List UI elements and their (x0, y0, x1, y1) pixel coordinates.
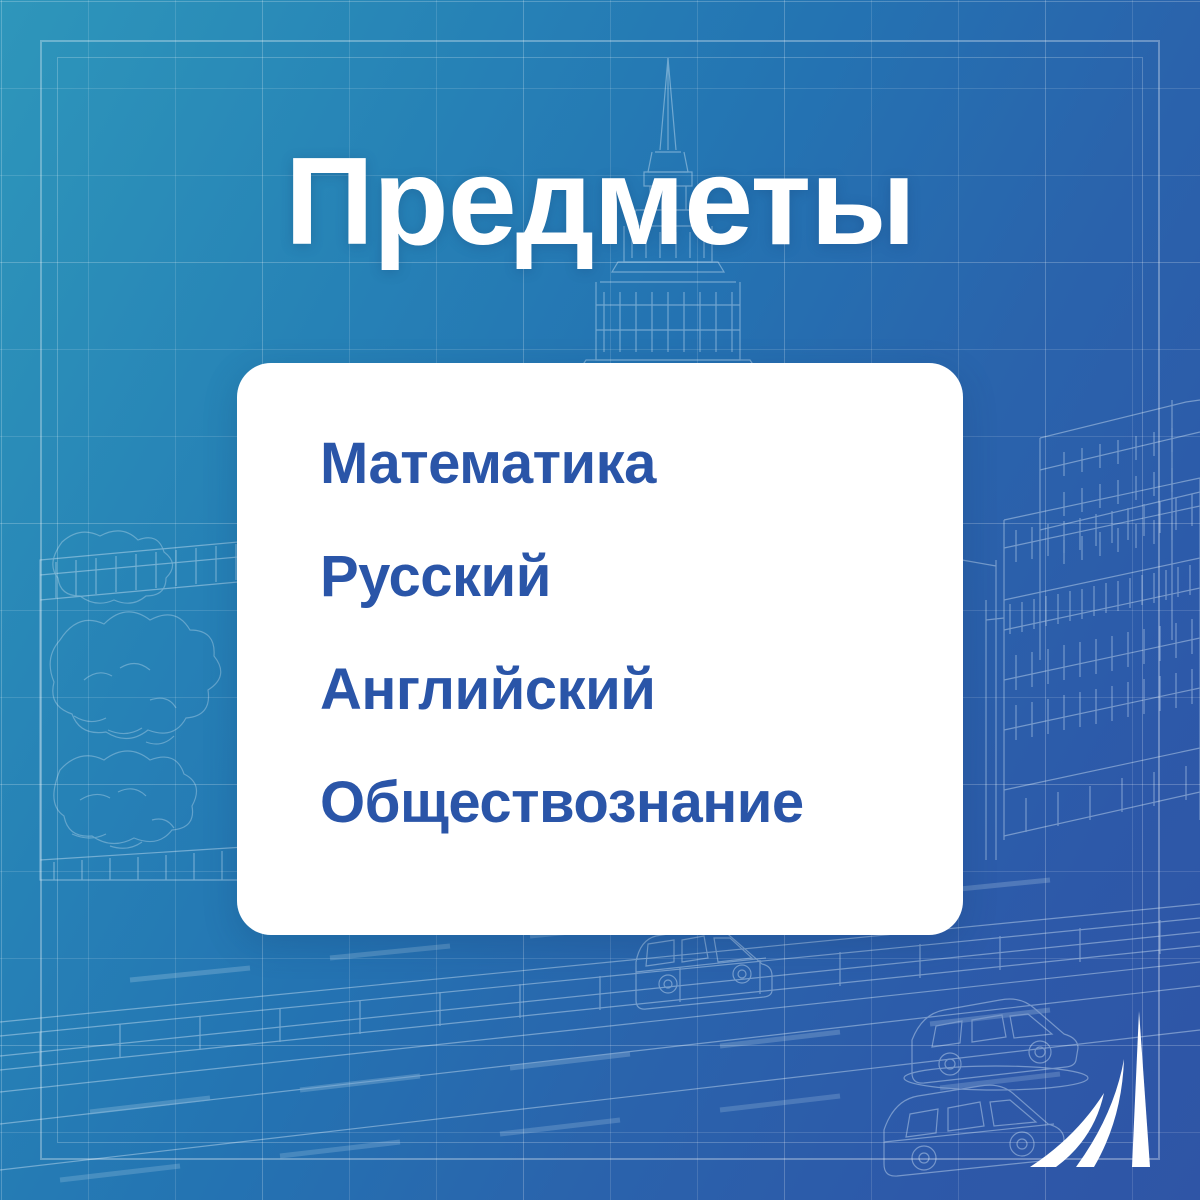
subject-item[interactable]: Обществознание (320, 774, 919, 832)
page-title: Предметы (0, 140, 1200, 264)
subject-item[interactable]: Математика (320, 435, 919, 493)
madi-sail-logo (1028, 1007, 1178, 1172)
poster-root: Предметы Математика Русский Английский О… (0, 0, 1200, 1200)
subject-item[interactable]: Английский (320, 661, 919, 719)
subjects-card: Математика Русский Английский Обществозн… (237, 363, 963, 935)
subject-item[interactable]: Русский (320, 548, 919, 606)
